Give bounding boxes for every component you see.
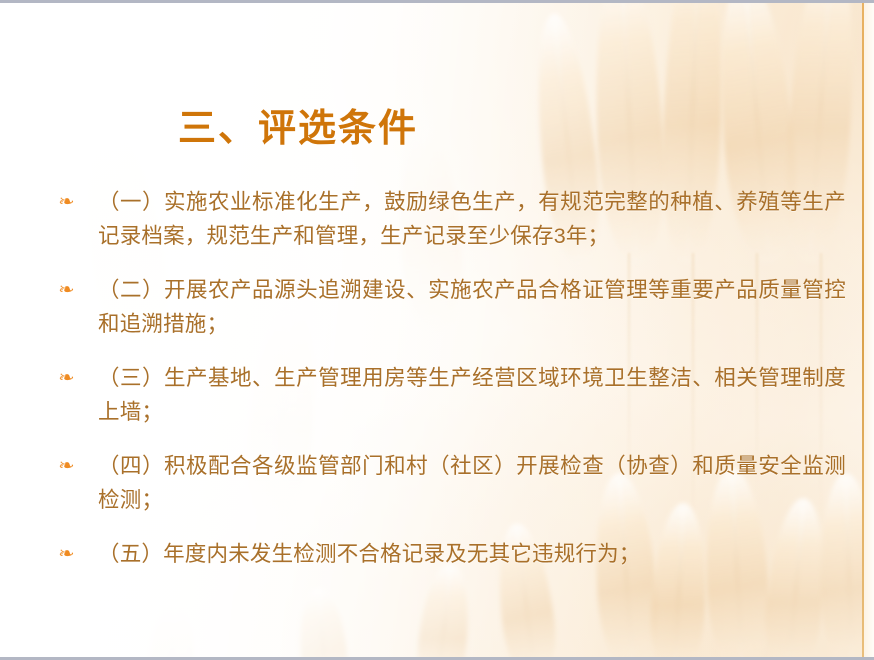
slide-title: 三、评选条件 [178, 97, 418, 152]
list-item: ❧ （二）开展农产品源头追溯建设、实施农产品合格证管理等重要产品质量管控和追溯措… [56, 273, 846, 341]
list-item-text: （五）年度内未发生检测不合格记录及无其它违规行为； [98, 537, 846, 571]
ornament-bullet-icon: ❧ [56, 361, 104, 395]
presentation-slide: 三、评选条件 ❧ （一）实施农业标准化生产，鼓励绿色生产，有规范完整的种植、养殖… [0, 0, 874, 660]
list-item-text: （一）实施农业标准化生产，鼓励绿色生产，有规范完整的种植、养殖等生产记录档案，规… [98, 185, 846, 253]
list-item: ❧ （三）生产基地、生产管理用房等生产经营区域环境卫生整洁、相关管理制度上墙； [56, 361, 846, 429]
ornament-bullet-icon: ❧ [56, 185, 104, 219]
list-item-text: （三）生产基地、生产管理用房等生产经营区域环境卫生整洁、相关管理制度上墙； [98, 361, 846, 429]
list-item: ❧ （四）积极配合各级监管部门和村（社区）开展检查（协查）和质量安全监测检测； [56, 449, 846, 517]
ornament-bullet-icon: ❧ [56, 537, 104, 571]
ornament-bullet-icon: ❧ [56, 273, 104, 307]
list-item-text: （二）开展农产品源头追溯建设、实施农产品合格证管理等重要产品质量管控和追溯措施； [98, 273, 846, 341]
slide-content: 三、评选条件 ❧ （一）实施农业标准化生产，鼓励绿色生产，有规范完整的种植、养殖… [0, 3, 874, 657]
list-item: ❧ （一）实施农业标准化生产，鼓励绿色生产，有规范完整的种植、养殖等生产记录档案… [56, 185, 846, 253]
criteria-list: ❧ （一）实施农业标准化生产，鼓励绿色生产，有规范完整的种植、养殖等生产记录档案… [56, 185, 846, 571]
ornament-bullet-icon: ❧ [56, 449, 104, 483]
list-item-text: （四）积极配合各级监管部门和村（社区）开展检查（协查）和质量安全监测检测； [98, 449, 846, 517]
list-item: ❧ （五）年度内未发生检测不合格记录及无其它违规行为； [56, 537, 846, 571]
